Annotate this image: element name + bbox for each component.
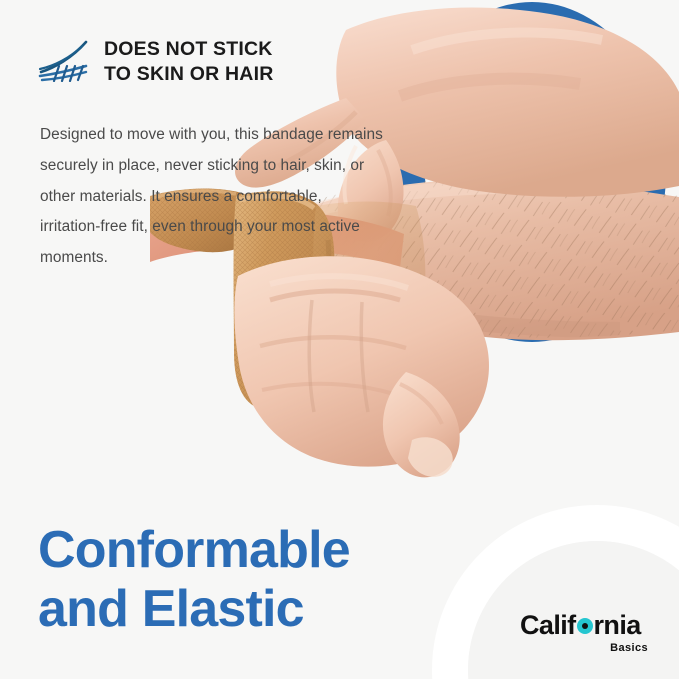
brand-name: Calif rnia	[520, 612, 655, 639]
brand-name-part-2: rnia	[594, 612, 641, 639]
feature-description: Designed to move with you, this bandage …	[40, 120, 385, 274]
feature-title: DOES NOT STICK TO SKIN OR HAIR	[104, 36, 273, 87]
brand-logo: Calif rnia Basics	[520, 612, 655, 654]
feature-header: DOES NOT STICK TO SKIN OR HAIR	[38, 36, 388, 87]
page-title: Conformable and Elastic	[38, 521, 350, 639]
teal-ring-o-icon	[577, 618, 593, 634]
feature-callout: DOES NOT STICK TO SKIN OR HAIR Designed …	[38, 36, 388, 274]
brand-name-part-1: Calif	[520, 612, 576, 639]
brand-tagline: Basics	[520, 642, 648, 654]
no-stick-hair-skin-icon	[38, 38, 90, 82]
product-feature-poster: DOES NOT STICK TO SKIN OR HAIR Designed …	[0, 0, 679, 679]
